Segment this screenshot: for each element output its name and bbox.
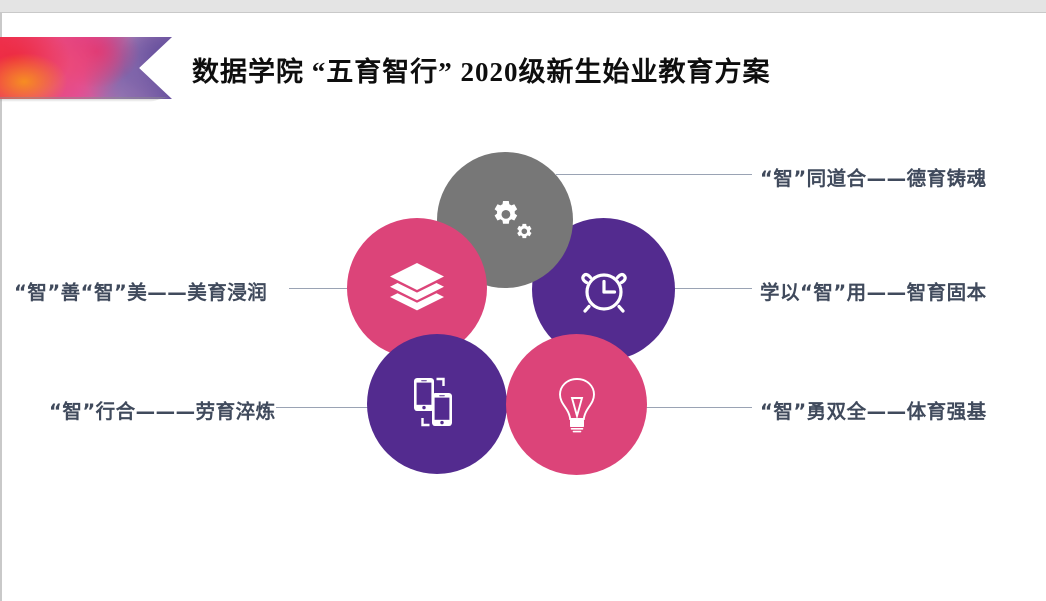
label-right-2: 学以“智”用——智育固本 bbox=[760, 276, 987, 305]
node-circle-bottom-left[interactable] bbox=[367, 334, 507, 474]
layers-icon bbox=[388, 261, 446, 315]
mobile-devices-icon bbox=[408, 375, 466, 433]
page-title: 数据学院 “五育智行” 2020级新生始业教育方案 bbox=[192, 50, 771, 89]
label-left-1: “智”善“智”美——美育浸润 bbox=[14, 276, 267, 305]
gears-icon bbox=[474, 194, 536, 246]
connector-line-left-2 bbox=[276, 407, 378, 408]
viewer-top-bar bbox=[0, 0, 1046, 13]
label-left-2: “智”行合———劳育淬炼 bbox=[49, 395, 276, 424]
alarm-clock-icon bbox=[575, 261, 633, 319]
ribbon-banner-decoration bbox=[0, 37, 172, 104]
connector-line-right-3 bbox=[640, 407, 752, 408]
connector-line-right-1 bbox=[556, 174, 752, 175]
label-right-3: “智”勇双全——体育强基 bbox=[760, 395, 987, 424]
slide-canvas: 数据学院 “五育智行” 2020级新生始业教育方案 bbox=[0, 0, 1046, 601]
label-right-1: “智”同道合——德育铸魂 bbox=[760, 162, 987, 191]
lightbulb-icon bbox=[552, 376, 602, 434]
ribbon-shape bbox=[0, 37, 172, 99]
ribbon-shadow bbox=[0, 97, 168, 102]
connector-line-right-2 bbox=[666, 288, 752, 289]
node-circle-bottom-right[interactable] bbox=[506, 334, 647, 475]
